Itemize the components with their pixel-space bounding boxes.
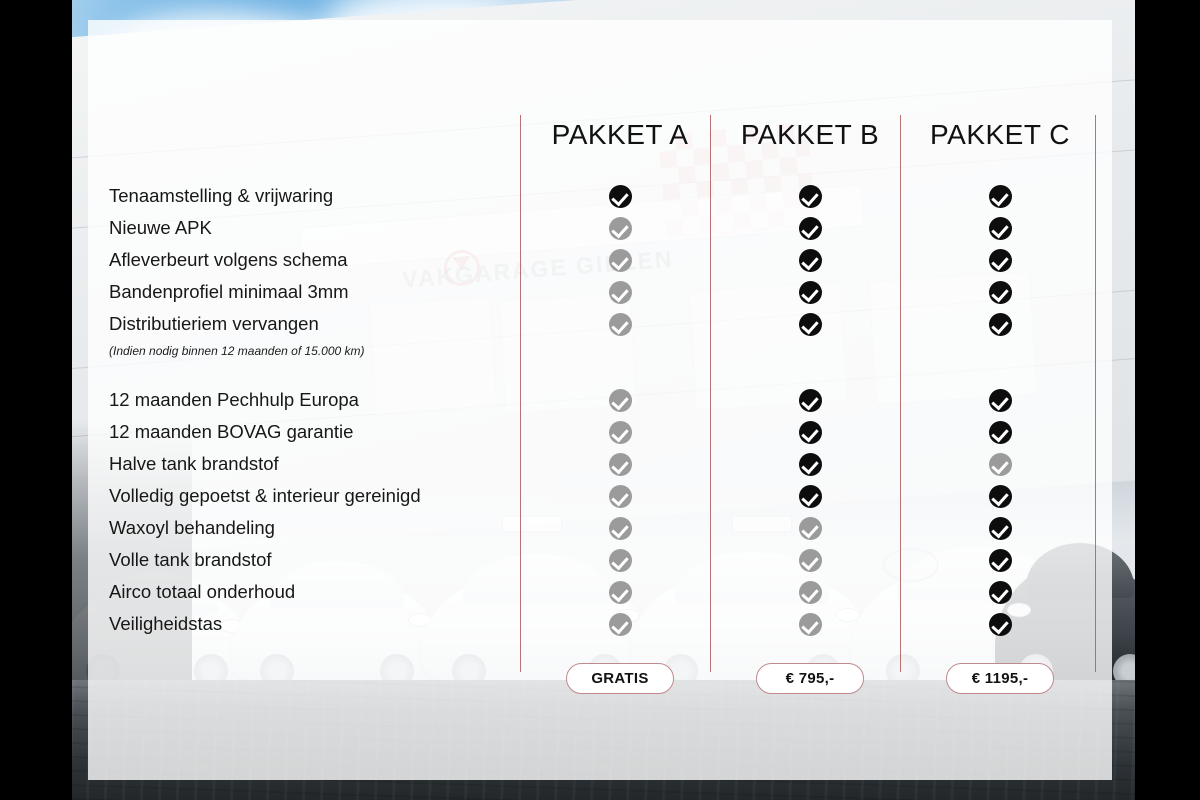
check-excluded-icon (989, 453, 1012, 476)
check-excluded-icon (799, 517, 822, 540)
check-included-icon (989, 313, 1012, 336)
check-cell (905, 384, 1095, 416)
group-spacer (525, 362, 715, 384)
check-cell (715, 244, 905, 276)
check-excluded-icon (609, 613, 632, 636)
check-included-icon (799, 421, 822, 444)
check-cell (905, 544, 1095, 576)
check-cell (525, 544, 715, 576)
check-cell (715, 180, 905, 212)
check-included-icon (609, 185, 632, 208)
check-cell (525, 512, 715, 544)
check-cell (715, 448, 905, 480)
price-pill-pakket-a[interactable]: GRATIS (566, 663, 674, 694)
check-included-icon (989, 485, 1012, 508)
letterbox-bar-right (1135, 0, 1200, 800)
note-spacer (715, 340, 905, 362)
column-header-pakket-b: PAKKET B (715, 119, 905, 151)
check-included-icon (799, 313, 822, 336)
check-cell (525, 576, 715, 608)
price-pill-pakket-b[interactable]: € 795,- (756, 663, 864, 694)
check-included-icon (989, 217, 1012, 240)
note-spacer (525, 340, 715, 362)
check-included-icon (989, 249, 1012, 272)
check-column-pakket-c (905, 180, 1095, 640)
feature-label: Airco totaal onderhoud (109, 576, 529, 608)
feature-label: 12 maanden BOVAG garantie (109, 416, 529, 448)
check-excluded-icon (609, 313, 632, 336)
check-cell (525, 416, 715, 448)
feature-label: Volledig gepoetst & interieur gereinigd (109, 480, 529, 512)
check-excluded-icon (609, 281, 632, 304)
check-included-icon (989, 517, 1012, 540)
feature-label: Waxoyl behandeling (109, 512, 529, 544)
check-cell (715, 276, 905, 308)
check-cell (905, 512, 1095, 544)
feature-label: Halve tank brandstof (109, 448, 529, 480)
check-excluded-icon (609, 549, 632, 572)
feature-label: 12 maanden Pechhulp Europa (109, 384, 529, 416)
check-cell (525, 244, 715, 276)
check-cell (715, 212, 905, 244)
check-cell (715, 416, 905, 448)
check-included-icon (799, 453, 822, 476)
check-included-icon (989, 613, 1012, 636)
check-cell (715, 480, 905, 512)
check-included-icon (799, 217, 822, 240)
feature-label: Afleverbeurt volgens schema (109, 244, 529, 276)
check-cell (525, 480, 715, 512)
check-cell (905, 416, 1095, 448)
feature-note: (Indien nodig binnen 12 maanden of 15.00… (109, 340, 529, 362)
group-spacer (905, 362, 1095, 384)
column-divider (1095, 115, 1096, 672)
check-cell (905, 308, 1095, 340)
check-cell (905, 244, 1095, 276)
check-cell (905, 276, 1095, 308)
check-included-icon (799, 389, 822, 412)
feature-label: Tenaamstelling & vrijwaring (109, 180, 529, 212)
check-included-icon (989, 389, 1012, 412)
check-excluded-icon (799, 549, 822, 572)
check-excluded-icon (609, 581, 632, 604)
letterbox-bar-left (0, 0, 72, 800)
check-included-icon (799, 249, 822, 272)
check-cell (525, 448, 715, 480)
feature-label: Veiligheidstas (109, 608, 529, 640)
check-included-icon (989, 581, 1012, 604)
group-spacer (109, 362, 529, 384)
check-cell (905, 180, 1095, 212)
check-included-icon (799, 281, 822, 304)
check-excluded-icon (609, 485, 632, 508)
feature-label: Bandenprofiel minimaal 3mm (109, 276, 529, 308)
check-excluded-icon (609, 217, 632, 240)
check-excluded-icon (609, 249, 632, 272)
check-excluded-icon (609, 389, 632, 412)
column-header-pakket-c: PAKKET C (905, 119, 1095, 151)
check-included-icon (799, 185, 822, 208)
feature-label: Volle tank brandstof (109, 544, 529, 576)
check-cell (715, 608, 905, 640)
check-excluded-icon (609, 517, 632, 540)
check-included-icon (989, 421, 1012, 444)
check-cell (715, 384, 905, 416)
check-cell (905, 480, 1095, 512)
check-included-icon (799, 485, 822, 508)
check-cell (525, 608, 715, 640)
check-column-pakket-b (715, 180, 905, 640)
check-excluded-icon (609, 453, 632, 476)
comparison-panel: PAKKET A PAKKET B PAKKET C Tenaamstellin… (88, 20, 1112, 780)
group-spacer (715, 362, 905, 384)
check-included-icon (989, 185, 1012, 208)
price-pill-pakket-c[interactable]: € 1195,- (946, 663, 1054, 694)
check-cell (525, 384, 715, 416)
check-excluded-icon (609, 421, 632, 444)
check-cell (905, 576, 1095, 608)
check-excluded-icon (799, 613, 822, 636)
check-cell (525, 276, 715, 308)
check-cell (715, 308, 905, 340)
screenshot-stage: VAKGARAGE GIELEN (0, 0, 1200, 800)
check-included-icon (989, 549, 1012, 572)
feature-label-column: Tenaamstelling & vrijwaringNieuwe APKAfl… (109, 180, 529, 640)
check-cell (525, 212, 715, 244)
feature-label: Nieuwe APK (109, 212, 529, 244)
check-cell (905, 212, 1095, 244)
check-cell (715, 512, 905, 544)
check-column-pakket-a (525, 180, 715, 640)
check-cell (525, 308, 715, 340)
note-spacer (905, 340, 1095, 362)
check-cell (715, 544, 905, 576)
column-header-pakket-a: PAKKET A (525, 119, 715, 151)
check-cell (905, 448, 1095, 480)
feature-label: Distributieriem vervangen (109, 308, 529, 340)
check-excluded-icon (799, 581, 822, 604)
check-cell (525, 180, 715, 212)
check-cell (715, 576, 905, 608)
check-included-icon (989, 281, 1012, 304)
check-cell (905, 608, 1095, 640)
